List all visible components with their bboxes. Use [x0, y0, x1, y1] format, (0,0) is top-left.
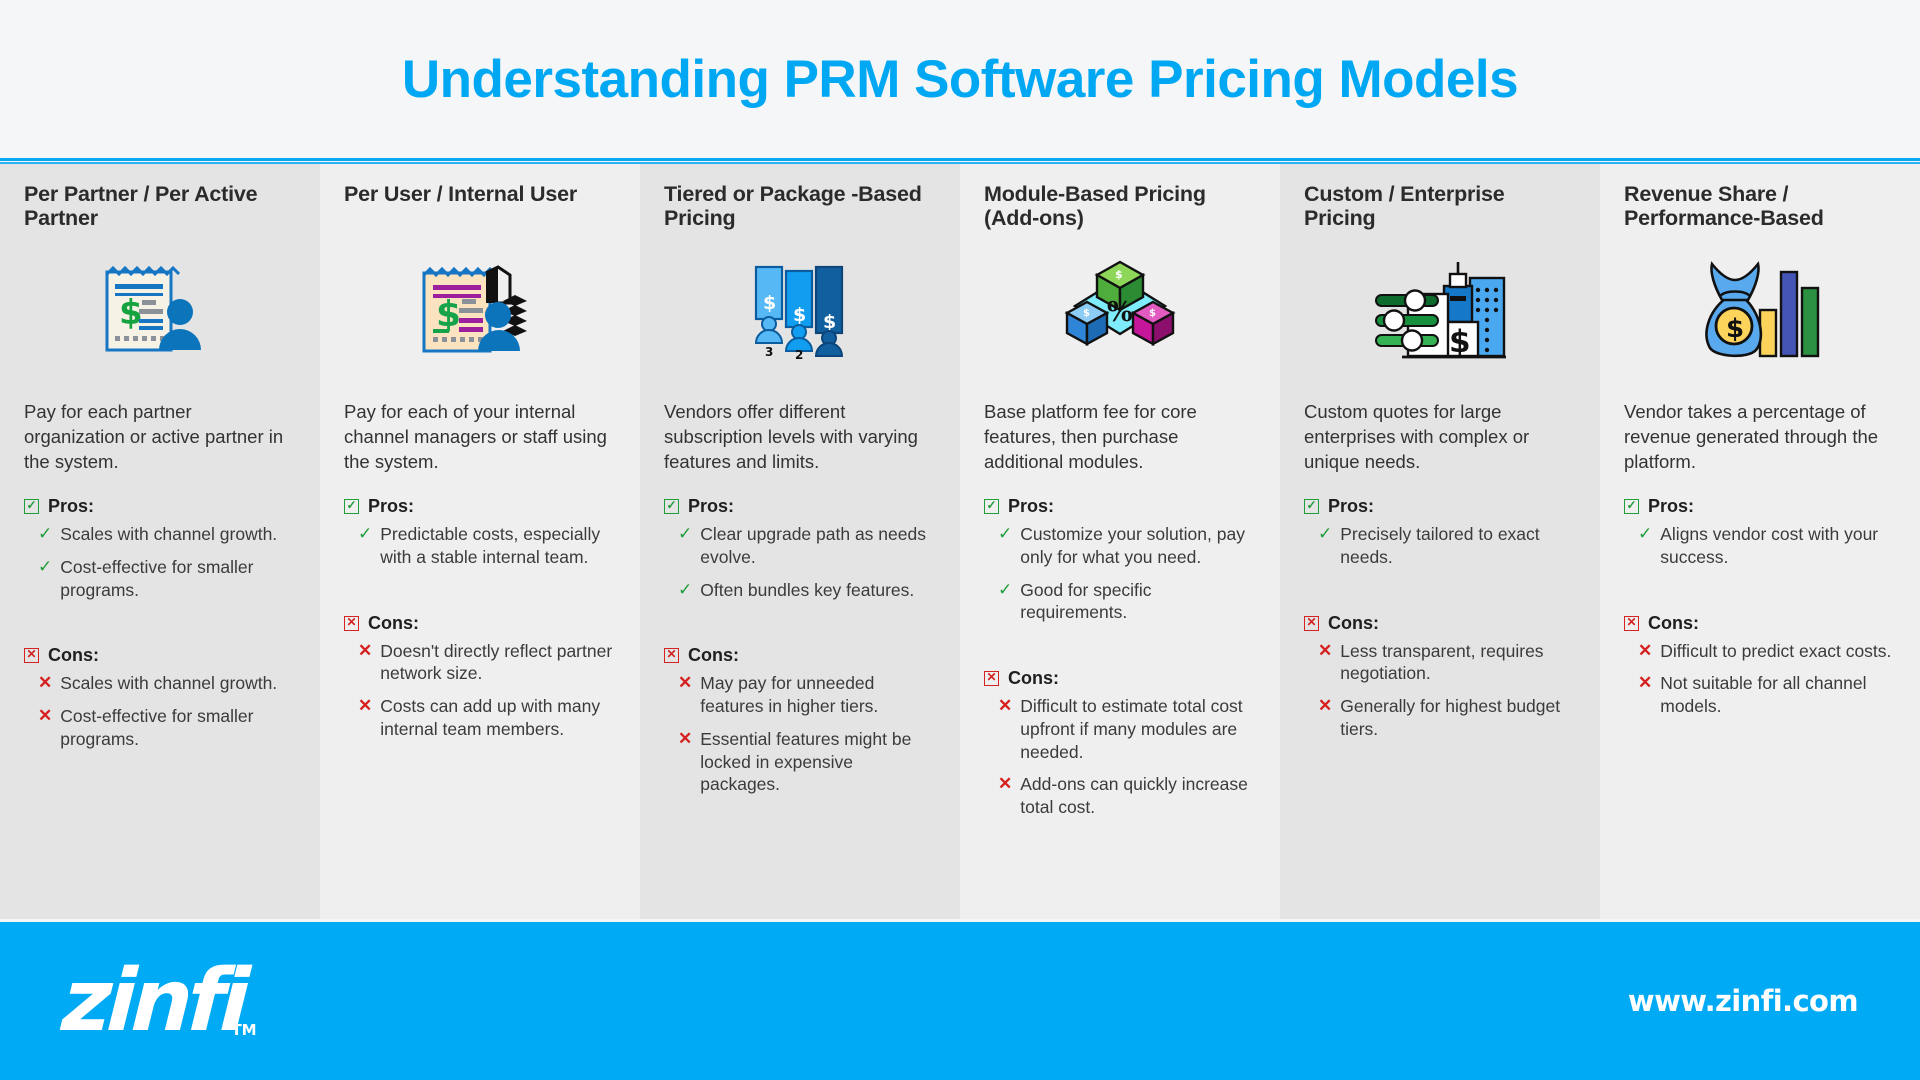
svg-text:$: $ — [1083, 308, 1090, 319]
cons-block: ✕ Cons: ✕Less transparent, requires nego… — [1304, 597, 1576, 751]
list-item: ✕Doesn't directly reflect partner networ… — [344, 640, 616, 686]
cons-checkbox-icon: ✕ — [24, 648, 39, 663]
card-description: Vendors offer different subscription lev… — [664, 400, 936, 478]
list-item: ✕Add-ons can quickly increase total cost… — [984, 773, 1256, 819]
cross-icon: ✕ — [38, 705, 52, 727]
cons-list: ✕Difficult to predict exact costs. ✕Not … — [1624, 640, 1896, 718]
pricing-card-per-partner: Per Partner / Per Active Partner $ — [0, 164, 320, 919]
cons-checkbox-icon: ✕ — [1624, 616, 1639, 631]
money-bag-bars-icon: $ — [1624, 246, 1896, 374]
list-item: ✕Essential features might be locked in e… — [664, 728, 936, 796]
list-item: ✕Difficult to estimate total cost upfron… — [984, 695, 1256, 763]
svg-text:$: $ — [793, 304, 806, 326]
pros-label: Pros: — [688, 496, 734, 517]
pros-checkbox-icon: ✓ — [1304, 499, 1319, 514]
header-divider — [0, 158, 1920, 161]
pros-list: ✓Scales with channel growth. ✓Cost-effec… — [24, 523, 296, 601]
card-title: Tiered or Package -Based Pricing — [664, 182, 936, 234]
pricing-card-module-based: Module-Based Pricing (Add-ons) $ $ — [960, 164, 1280, 919]
card-description: Pay for each of your internal channel ma… — [344, 400, 616, 478]
pricing-card-tiered: Tiered or Package -Based Pricing $ $ $ 3… — [640, 164, 960, 919]
svg-text:$: $ — [823, 311, 836, 333]
list-item: ✓Good for specific requirements. — [984, 579, 1256, 625]
cons-label: Cons: — [368, 613, 419, 634]
pros-label: Pros: — [1328, 496, 1374, 517]
pros-heading: ✓ Pros: — [24, 496, 296, 517]
cross-icon: ✕ — [1638, 640, 1652, 662]
list-item: ✕Scales with channel growth. — [24, 672, 296, 695]
svg-text:%: % — [1107, 297, 1133, 328]
cons-list: ✕Less transparent, requires negotiation.… — [1304, 640, 1576, 741]
cross-icon: ✕ — [678, 672, 692, 694]
list-item: ✓Aligns vendor cost with your success. — [1624, 523, 1896, 569]
list-item: ✕May pay for unneeded features in higher… — [664, 672, 936, 718]
pros-list: ✓Aligns vendor cost with your success. — [1624, 523, 1896, 569]
pros-heading: ✓ Pros: — [984, 496, 1256, 517]
cross-icon: ✕ — [678, 728, 692, 750]
pros-label: Pros: — [1648, 496, 1694, 517]
footer: zinfiTM www.zinfi.com — [0, 922, 1920, 1080]
cross-icon: ✕ — [1318, 695, 1332, 717]
cons-block: ✕ Cons: ✕Difficult to estimate total cos… — [984, 652, 1256, 829]
card-description: Custom quotes for large enterprises with… — [1304, 400, 1576, 478]
pros-block: ✓ Pros: ✓Scales with channel growth. ✓Co… — [24, 496, 296, 611]
cons-list: ✕May pay for unneeded features in higher… — [664, 672, 936, 796]
pricing-card-revenue-share: Revenue Share / Performance-Based $ Vend… — [1600, 164, 1920, 919]
pros-block: ✓ Pros: ✓Clear upgrade path as needs evo… — [664, 496, 936, 611]
cons-label: Cons: — [48, 645, 99, 666]
cons-block: ✕ Cons: ✕Doesn't directly reflect partne… — [344, 597, 616, 751]
cross-icon: ✕ — [998, 773, 1012, 795]
header: Understanding PRM Software Pricing Model… — [0, 0, 1920, 158]
check-icon: ✓ — [358, 523, 372, 545]
cross-icon: ✕ — [358, 695, 372, 717]
list-item: ✕Not suitable for all channel models. — [1624, 672, 1896, 718]
check-icon: ✓ — [678, 579, 692, 601]
svg-text:$: $ — [1449, 324, 1471, 360]
page-title: Understanding PRM Software Pricing Model… — [402, 49, 1518, 110]
list-item: ✓Customize your solution, pay only for w… — [984, 523, 1256, 569]
card-title: Per User / Internal User — [344, 182, 616, 234]
check-icon: ✓ — [38, 556, 52, 578]
svg-text:3: 3 — [765, 345, 773, 359]
list-item: ✕Less transparent, requires negotiation. — [1304, 640, 1576, 686]
list-item: ✓Cost-effective for smaller programs. — [24, 556, 296, 602]
list-item: ✓Precisely tailored to exact needs. — [1304, 523, 1576, 569]
card-description: Pay for each partner organization or act… — [24, 400, 296, 478]
cross-icon: ✕ — [998, 695, 1012, 717]
pros-heading: ✓ Pros: — [1304, 496, 1576, 517]
list-item: ✓Scales with channel growth. — [24, 523, 296, 546]
check-icon: ✓ — [998, 523, 1012, 545]
infographic-page: Understanding PRM Software Pricing Model… — [0, 0, 1920, 1080]
cons-heading: ✕ Cons: — [1624, 613, 1896, 634]
cons-block: ✕ Cons: ✕May pay for unneeded features i… — [664, 629, 936, 806]
list-item: ✓Predictable costs, especially with a st… — [344, 523, 616, 569]
list-item: ✕Difficult to predict exact costs. — [1624, 640, 1896, 663]
pricing-model-columns: Per Partner / Per Active Partner $ — [0, 164, 1920, 919]
invoice-building-person-icon: $ — [344, 246, 616, 374]
card-description: Vendor takes a percentage of revenue gen… — [1624, 400, 1896, 478]
cross-icon: ✕ — [1638, 672, 1652, 694]
cons-heading: ✕ Cons: — [24, 645, 296, 666]
cross-icon: ✕ — [38, 672, 52, 694]
list-item: ✕Costs can add up with many internal tea… — [344, 695, 616, 741]
pros-block: ✓ Pros: ✓Aligns vendor cost with your su… — [1624, 496, 1896, 579]
pros-label: Pros: — [48, 496, 94, 517]
cross-icon: ✕ — [358, 640, 372, 662]
pros-heading: ✓ Pros: — [344, 496, 616, 517]
card-title: Revenue Share / Performance-Based — [1624, 182, 1896, 234]
logo-text: zinfi — [59, 951, 247, 1051]
pros-checkbox-icon: ✓ — [984, 499, 999, 514]
cons-block: ✕ Cons: ✕Difficult to predict exact cost… — [1624, 597, 1896, 728]
pros-heading: ✓ Pros: — [664, 496, 936, 517]
cross-icon: ✕ — [1318, 640, 1332, 662]
modular-cubes-percent-icon: $ $ $ % — [984, 246, 1256, 374]
pros-label: Pros: — [368, 496, 414, 517]
invoice-person-icon: $ — [24, 246, 296, 374]
pros-checkbox-icon: ✓ — [1624, 499, 1639, 514]
cons-list: ✕Doesn't directly reflect partner networ… — [344, 640, 616, 741]
svg-text:$: $ — [763, 292, 776, 314]
check-icon: ✓ — [1638, 523, 1652, 545]
pros-label: Pros: — [1008, 496, 1054, 517]
list-item: ✕Cost-effective for smaller programs. — [24, 705, 296, 751]
svg-text:$: $ — [1149, 308, 1156, 319]
cons-heading: ✕ Cons: — [1304, 613, 1576, 634]
check-icon: ✓ — [1318, 523, 1332, 545]
card-title: Per Partner / Per Active Partner — [24, 182, 296, 234]
svg-text:2: 2 — [795, 348, 803, 359]
cons-checkbox-icon: ✕ — [984, 671, 999, 686]
list-item: ✓Clear upgrade path as needs evolve. — [664, 523, 936, 569]
cons-list: ✕Scales with channel growth. ✕Cost-effec… — [24, 672, 296, 750]
pros-block: ✓ Pros: ✓Precisely tailored to exact nee… — [1304, 496, 1576, 579]
card-title: Module-Based Pricing (Add-ons) — [984, 182, 1256, 234]
pricing-card-custom-enterprise: Custom / Enterprise Pricing $ — [1280, 164, 1600, 919]
check-icon: ✓ — [678, 523, 692, 545]
pros-block: ✓ Pros: ✓Customize your solution, pay on… — [984, 496, 1256, 634]
card-title: Custom / Enterprise Pricing — [1304, 182, 1576, 234]
cons-heading: ✕ Cons: — [984, 668, 1256, 689]
cons-checkbox-icon: ✕ — [664, 648, 679, 663]
zinfi-logo[interactable]: zinfiTM — [60, 958, 247, 1044]
svg-text:$: $ — [1726, 314, 1744, 344]
pros-block: ✓ Pros: ✓Predictable costs, especially w… — [344, 496, 616, 579]
cons-label: Cons: — [1008, 668, 1059, 689]
sliders-buildings-dollar-icon: $ — [1304, 246, 1576, 374]
pros-list: ✓Clear upgrade path as needs evolve. ✓Of… — [664, 523, 936, 601]
card-description: Base platform fee for core features, the… — [984, 400, 1256, 478]
tiered-bars-users-icon: $ $ $ 3 2 — [664, 246, 936, 374]
pros-checkbox-icon: ✓ — [664, 499, 679, 514]
check-icon: ✓ — [38, 523, 52, 545]
cons-label: Cons: — [1328, 613, 1379, 634]
pros-heading: ✓ Pros: — [1624, 496, 1896, 517]
logo-trademark: TM — [232, 1023, 257, 1038]
pricing-card-per-user: Per User / Internal User $ — [320, 164, 640, 919]
pros-list: ✓Predictable costs, especially with a st… — [344, 523, 616, 569]
pros-list: ✓Customize your solution, pay only for w… — [984, 523, 1256, 624]
list-item: ✓Often bundles key features. — [664, 579, 936, 602]
list-item: ✕Generally for highest budget tiers. — [1304, 695, 1576, 741]
pros-list: ✓Precisely tailored to exact needs. — [1304, 523, 1576, 569]
cons-heading: ✕ Cons: — [664, 645, 936, 666]
cons-list: ✕Difficult to estimate total cost upfron… — [984, 695, 1256, 819]
cons-checkbox-icon: ✕ — [1304, 616, 1319, 631]
cons-checkbox-icon: ✕ — [344, 616, 359, 631]
svg-text:$: $ — [436, 294, 461, 335]
svg-text:$: $ — [1115, 268, 1123, 281]
website-url[interactable]: www.zinfi.com — [1628, 984, 1858, 1018]
cons-label: Cons: — [688, 645, 739, 666]
pros-checkbox-icon: ✓ — [24, 499, 39, 514]
check-icon: ✓ — [998, 579, 1012, 601]
cons-label: Cons: — [1648, 613, 1699, 634]
cons-heading: ✕ Cons: — [344, 613, 616, 634]
cons-block: ✕ Cons: ✕Scales with channel growth. ✕Co… — [24, 629, 296, 760]
pros-checkbox-icon: ✓ — [344, 499, 359, 514]
